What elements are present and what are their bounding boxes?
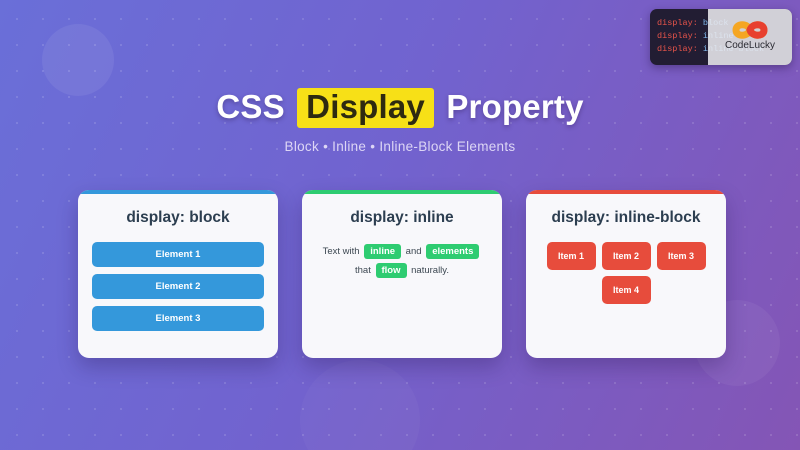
- block-element-3: Element 3: [92, 306, 264, 331]
- page-subtitle: Block • Inline • Inline-Block Elements: [0, 139, 800, 154]
- inline-block-demo-group: Item 1Item 2Item 3Item 4: [540, 242, 712, 310]
- inline-tag-elements: elements: [426, 244, 479, 259]
- badge-code-prop-2: display:: [657, 31, 698, 41]
- card-display-block: display: block Element 1 Element 2 Eleme…: [78, 190, 278, 358]
- block-demo-list: Element 1 Element 2 Element 3: [92, 242, 264, 331]
- decorative-circle-bottom-center: [300, 360, 420, 450]
- inline-tag-inline: inline: [364, 244, 401, 259]
- inline-demo-paragraph: Text with inline and elements that flow …: [316, 242, 488, 280]
- inline-text-part-2: and: [403, 246, 424, 257]
- inline-tag-flow: flow: [376, 263, 407, 278]
- decorative-circle-top-left: [42, 24, 114, 96]
- inline-block-item-1: Item 1: [547, 242, 596, 270]
- badge-brand-name: CodeLucky: [708, 40, 792, 51]
- card-accent-bar-inline-block: [526, 190, 726, 194]
- card-title-block: display: block: [92, 209, 264, 227]
- slide-header: CSS Display Property Block • Inline • In…: [0, 88, 800, 154]
- card-accent-bar-inline: [302, 190, 502, 194]
- title-word-property: Property: [446, 88, 583, 125]
- title-word-css: CSS: [216, 88, 284, 125]
- inline-block-item-4: Item 4: [602, 276, 651, 304]
- card-display-inline: display: inline Text with inline and ele…: [302, 190, 502, 358]
- inline-text-part-1: Text with: [323, 246, 363, 257]
- watermark-badge: display: block display: inline display: …: [650, 9, 792, 65]
- block-element-2: Element 2: [92, 274, 264, 299]
- title-word-display-highlighted: Display: [297, 88, 434, 128]
- badge-code-prop-1: display:: [657, 18, 698, 28]
- card-display-inline-block: display: inline-block Item 1Item 2Item 3…: [526, 190, 726, 358]
- card-title-inline: display: inline: [316, 209, 488, 227]
- badge-code-prop-3: display:: [657, 44, 698, 54]
- page-title: CSS Display Property: [0, 88, 800, 128]
- inline-text-part-4: naturally.: [409, 265, 449, 276]
- card-title-inline-block: display: inline-block: [540, 209, 712, 227]
- inline-block-item-3: Item 3: [657, 242, 706, 270]
- slide-canvas: CSS Display Property Block • Inline • In…: [0, 0, 800, 450]
- card-accent-bar-block: [78, 190, 278, 194]
- inline-text-part-3: that: [355, 265, 374, 276]
- inline-block-item-2: Item 2: [602, 242, 651, 270]
- block-element-1: Element 1: [92, 242, 264, 267]
- cards-row: display: block Element 1 Element 2 Eleme…: [78, 190, 726, 358]
